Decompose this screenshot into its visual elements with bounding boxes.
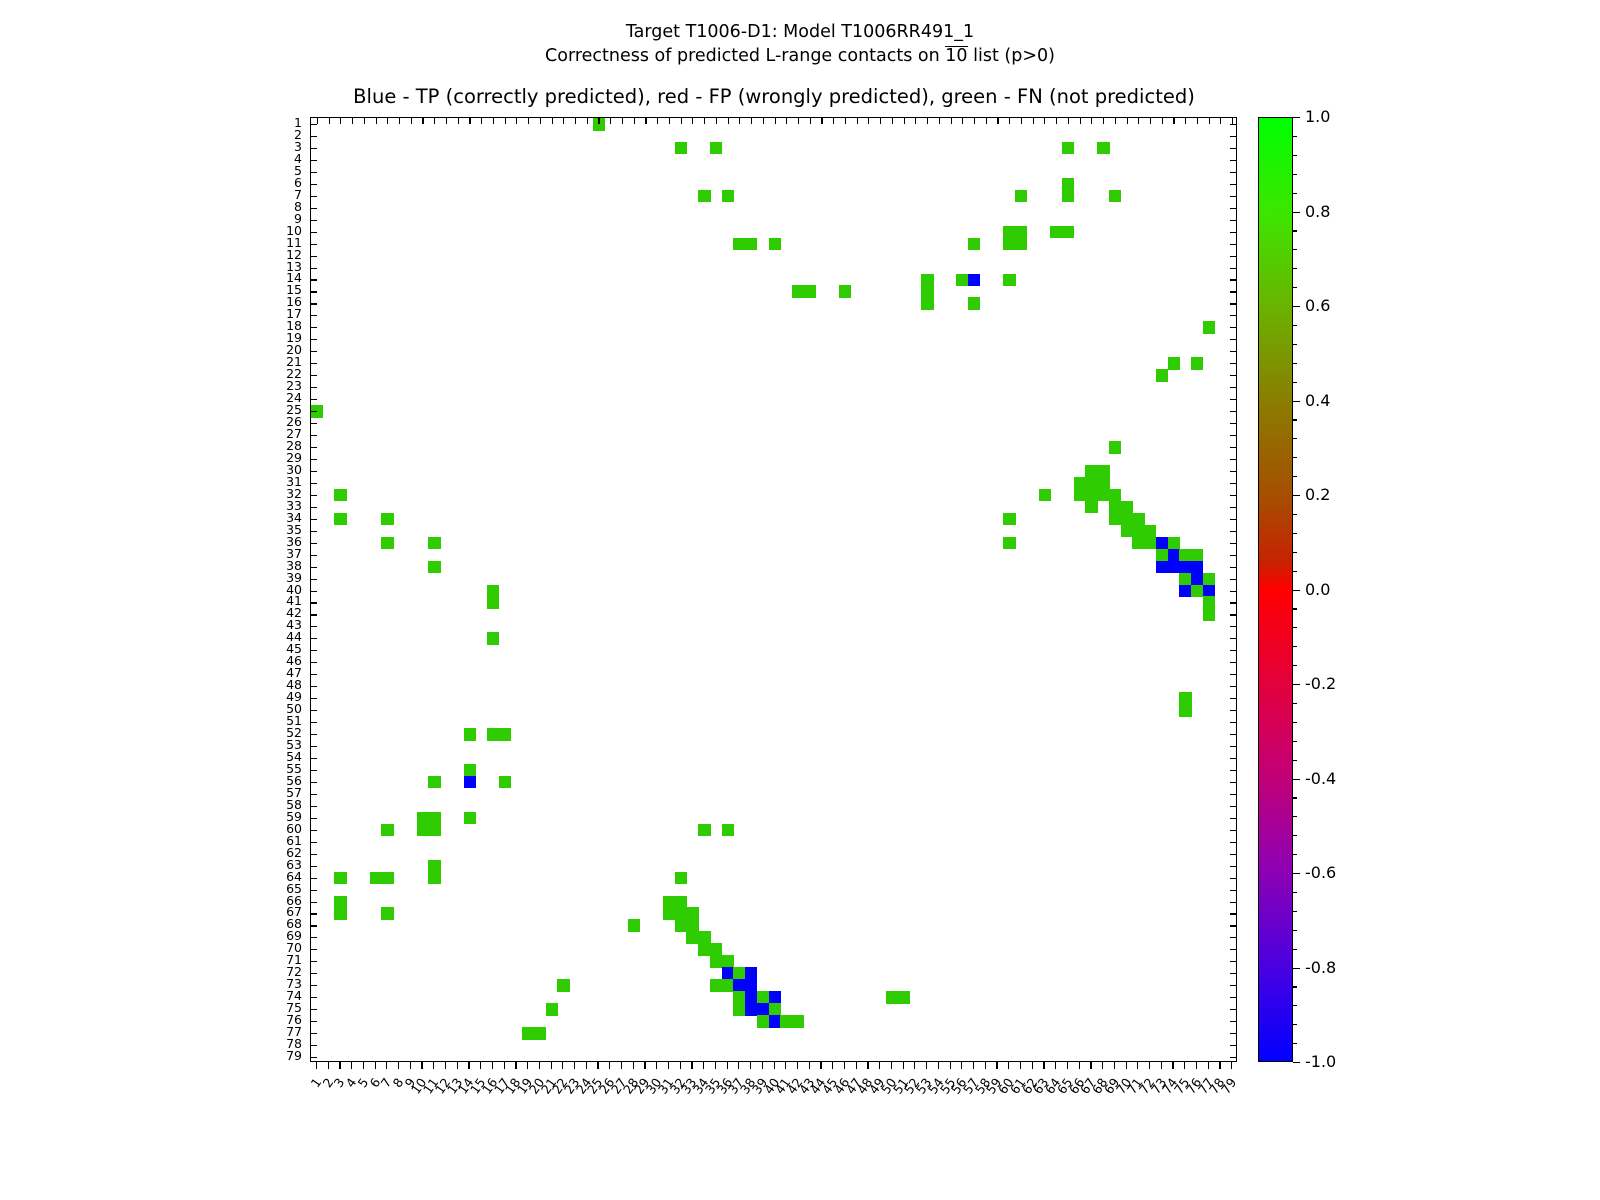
colorbar-minor-tick <box>1293 741 1297 742</box>
x-minor-tick-top <box>681 118 682 124</box>
x-minor-tick-top <box>833 118 834 124</box>
contact-cell <box>792 285 804 298</box>
title-line2-post: list (p>0) <box>968 46 1055 66</box>
y-minor-tick-right <box>1230 770 1236 771</box>
y-minor-tick-right <box>1230 244 1236 245</box>
y-minor-tick-right <box>1230 387 1236 388</box>
x-tick-mark <box>398 1062 399 1069</box>
colorbar-minor-tick <box>1293 533 1297 534</box>
colorbar-minor-tick <box>1293 193 1297 194</box>
y-minor-tick-right <box>1230 184 1236 185</box>
contact-cell <box>1191 549 1203 562</box>
x-minor-tick-top <box>422 118 423 124</box>
x-tick-mark <box>1161 1062 1162 1069</box>
colorbar-minor-tick <box>1293 722 1297 723</box>
contact-cell <box>1085 477 1097 490</box>
contact-cell <box>921 297 933 310</box>
colorbar[interactable]: 1.00.80.60.40.20.0-0.2-0.4-0.6-0.8-1.0 <box>1258 117 1358 1062</box>
y-minor-tick-right <box>1230 471 1236 472</box>
y-minor-tick-right <box>1230 519 1236 520</box>
x-tick-mark <box>844 1062 845 1069</box>
contact-cell <box>745 967 757 980</box>
y-minor-tick-left <box>311 890 317 891</box>
x-tick-mark <box>1114 1062 1115 1069</box>
x-minor-tick-top <box>1115 118 1116 124</box>
colorbar-minor-tick <box>1293 438 1297 439</box>
colorbar-minor-tick <box>1293 174 1297 175</box>
x-minor-tick-top <box>1068 118 1069 124</box>
contact-cell <box>1109 489 1121 502</box>
y-minor-tick-right <box>1230 1045 1236 1046</box>
colorbar-gradient <box>1258 117 1293 1062</box>
y-minor-tick-right <box>1230 303 1236 304</box>
contact-cell <box>1144 537 1156 550</box>
contact-cell <box>1003 226 1015 239</box>
contact-cell <box>1191 357 1203 370</box>
y-minor-tick-left <box>311 902 317 903</box>
y-minor-tick-left <box>311 160 317 161</box>
colorbar-tick-label: 0.0 <box>1305 582 1330 598</box>
colorbar-minor-tick <box>1293 212 1297 213</box>
y-minor-tick-right <box>1230 1033 1236 1034</box>
x-tick-mark <box>820 1062 821 1069</box>
y-minor-tick-right <box>1230 220 1236 221</box>
x-tick-mark <box>1172 1062 1173 1069</box>
contact-cell <box>417 812 429 825</box>
x-tick-mark <box>562 1062 563 1069</box>
x-tick-mark <box>762 1062 763 1069</box>
x-minor-tick-top <box>1162 118 1163 124</box>
y-minor-tick-left <box>311 626 317 627</box>
y-minor-tick-left <box>311 806 317 807</box>
contact-cell <box>1015 226 1027 239</box>
colorbar-minor-tick <box>1293 684 1297 685</box>
x-tick-mark <box>316 1062 317 1069</box>
y-minor-tick-left <box>311 710 317 711</box>
x-minor-tick-top <box>951 118 952 124</box>
x-minor-tick-top <box>481 118 482 124</box>
y-minor-tick-left <box>311 770 317 771</box>
y-minor-tick-right <box>1230 591 1236 592</box>
x-tick-mark <box>867 1062 868 1069</box>
contact-cell <box>1062 190 1074 203</box>
y-minor-tick-right <box>1230 638 1236 639</box>
x-tick-mark <box>1231 1062 1232 1069</box>
contact-cell <box>1203 608 1215 621</box>
x-tick-mark <box>586 1062 587 1069</box>
x-minor-tick-top <box>446 118 447 124</box>
y-minor-tick-left <box>311 543 317 544</box>
x-minor-tick-top <box>1127 118 1128 124</box>
y-minor-tick-left <box>311 136 317 137</box>
y-minor-tick-left <box>311 734 317 735</box>
contact-cell <box>769 1015 781 1028</box>
y-tick-label: 79 <box>286 1050 302 1062</box>
y-minor-tick-left <box>311 531 317 532</box>
y-minor-tick-right <box>1230 614 1236 615</box>
contact-cell <box>487 585 499 598</box>
x-tick-mark <box>950 1062 951 1069</box>
y-minor-tick-left <box>311 220 317 221</box>
contact-cell <box>1085 489 1097 502</box>
x-minor-tick-top <box>317 118 318 124</box>
colorbar-minor-tick <box>1293 476 1297 477</box>
contact-cell <box>1203 573 1215 586</box>
x-tick-mark <box>879 1062 880 1069</box>
x-minor-tick-top <box>493 118 494 124</box>
x-tick-mark <box>703 1062 704 1069</box>
contact-cell <box>1050 226 1062 239</box>
x-tick-mark <box>691 1062 692 1069</box>
x-tick-mark <box>856 1062 857 1069</box>
contact-cell <box>1191 573 1203 586</box>
y-minor-tick-left <box>311 937 317 938</box>
y-minor-tick-left <box>311 351 317 352</box>
contact-cell <box>487 728 499 741</box>
x-tick-mark <box>597 1062 598 1069</box>
contact-cell <box>698 824 710 837</box>
colorbar-minor-tick <box>1293 571 1297 572</box>
y-minor-tick-right <box>1230 674 1236 675</box>
contact-cell <box>1168 549 1180 562</box>
contact-cell <box>487 632 499 645</box>
contact-cell <box>428 537 440 550</box>
y-minor-tick-right <box>1230 734 1236 735</box>
x-tick-mark <box>914 1062 915 1069</box>
contact-cell <box>722 190 734 203</box>
contact-cell <box>745 1003 757 1016</box>
y-minor-tick-left <box>311 172 317 173</box>
y-minor-tick-left <box>311 758 317 759</box>
y-minor-tick-left <box>311 256 317 257</box>
colorbar-minor-tick <box>1293 363 1297 364</box>
colorbar-minor-tick <box>1293 1005 1297 1006</box>
x-tick-mark <box>410 1062 411 1069</box>
y-minor-tick-left <box>311 794 317 795</box>
y-minor-tick-right <box>1230 291 1236 292</box>
x-minor-tick-top <box>716 118 717 124</box>
colorbar-minor-tick <box>1293 495 1297 496</box>
x-minor-tick-top <box>997 118 998 124</box>
x-tick-mark <box>656 1062 657 1069</box>
x-tick-mark <box>961 1062 962 1069</box>
contact-cell <box>1191 561 1203 574</box>
y-minor-tick-left <box>311 614 317 615</box>
x-minor-tick-top <box>634 118 635 124</box>
x-minor-tick-top <box>657 118 658 124</box>
colorbar-tick-label: -0.8 <box>1305 960 1336 976</box>
x-minor-tick-top <box>340 118 341 124</box>
y-minor-tick-left <box>311 483 317 484</box>
y-minor-tick-right <box>1230 375 1236 376</box>
x-minor-tick-top <box>552 118 553 124</box>
x-tick-mark <box>785 1062 786 1069</box>
x-tick-mark <box>363 1062 364 1069</box>
x-tick-mark <box>738 1062 739 1069</box>
colorbar-minor-tick <box>1293 797 1297 798</box>
contact-cell <box>1109 441 1121 454</box>
contact-cell <box>499 776 511 789</box>
contact-cell <box>968 274 980 287</box>
x-tick-mark <box>891 1062 892 1069</box>
contact-cell <box>1039 489 1051 502</box>
y-minor-tick-left <box>311 878 317 879</box>
x-tick-mark <box>386 1062 387 1069</box>
contact-cell <box>921 285 933 298</box>
contact-cell <box>381 907 393 920</box>
y-minor-tick-left <box>311 232 317 233</box>
colorbar-minor-tick <box>1293 230 1297 231</box>
legend-subtitle: Blue - TP (correctly predicted), red - F… <box>310 85 1238 108</box>
x-minor-tick-top <box>469 118 470 124</box>
x-tick-mark <box>1208 1062 1209 1069</box>
x-minor-tick-top <box>563 118 564 124</box>
contact-cell <box>1085 501 1097 514</box>
y-minor-tick-left <box>311 471 317 472</box>
y-minor-tick-right <box>1230 830 1236 831</box>
colorbar-minor-tick <box>1293 760 1297 761</box>
contact-cell <box>698 943 710 956</box>
y-minor-tick-right <box>1230 842 1236 843</box>
y-minor-tick-right <box>1230 327 1236 328</box>
x-tick-mark <box>727 1062 728 1069</box>
contact-cell <box>499 728 511 741</box>
contact-cell <box>1156 549 1168 562</box>
x-minor-tick-top <box>704 118 705 124</box>
x-minor-tick-top <box>411 118 412 124</box>
contact-cell <box>745 238 757 251</box>
y-minor-tick-left <box>311 291 317 292</box>
contact-cell <box>745 979 757 992</box>
x-tick-mark <box>328 1062 329 1069</box>
contact-cell <box>722 979 734 992</box>
colorbar-minor-tick <box>1293 873 1297 874</box>
contact-cell <box>334 489 346 502</box>
contact-cell <box>710 979 722 992</box>
colorbar-minor-tick <box>1293 627 1297 628</box>
contact-cell <box>839 285 851 298</box>
contact-cell <box>698 190 710 203</box>
contact-cell <box>769 1003 781 1016</box>
y-minor-tick-right <box>1230 555 1236 556</box>
x-minor-tick-top <box>821 118 822 124</box>
contact-cell <box>663 896 675 909</box>
colorbar-minor-tick <box>1293 155 1297 156</box>
contact-map-plot[interactable] <box>310 117 1237 1062</box>
contact-cell <box>1168 561 1180 574</box>
x-minor-tick-top <box>1033 118 1034 124</box>
contact-cell <box>757 1003 769 1016</box>
contact-cell <box>1168 357 1180 370</box>
contact-cell <box>956 274 968 287</box>
y-minor-tick-right <box>1230 507 1236 508</box>
y-minor-tick-right <box>1230 854 1236 855</box>
y-minor-tick-right <box>1230 902 1236 903</box>
x-minor-tick-top <box>751 118 752 124</box>
y-minor-tick-left <box>311 495 317 496</box>
y-minor-tick-left <box>311 722 317 723</box>
x-minor-tick-top <box>1150 118 1151 124</box>
y-minor-tick-right <box>1230 878 1236 879</box>
x-minor-tick-top <box>1138 118 1139 124</box>
x-tick-mark <box>609 1062 610 1069</box>
x-tick-mark <box>468 1062 469 1069</box>
x-minor-tick-top <box>786 118 787 124</box>
contact-cell <box>1097 465 1109 478</box>
contact-cell <box>1203 585 1215 598</box>
x-tick-mark <box>1149 1062 1150 1069</box>
contact-cell <box>1074 489 1086 502</box>
contact-cell <box>1097 477 1109 490</box>
contact-cell <box>769 238 781 251</box>
colorbar-tick-label: -0.4 <box>1305 771 1336 787</box>
contact-cell <box>428 824 440 837</box>
contact-cell <box>370 872 382 885</box>
y-minor-tick-left <box>311 1009 317 1010</box>
x-minor-tick-top <box>669 118 670 124</box>
contact-cell <box>886 991 898 1004</box>
title-line2-pre: Correctness of predicted L-range contact… <box>545 46 945 66</box>
x-minor-tick-top <box>1197 118 1198 124</box>
contact-cell <box>722 824 734 837</box>
y-minor-tick-left <box>311 866 317 867</box>
contact-cell <box>557 979 569 992</box>
x-minor-tick-top <box>880 118 881 124</box>
figure-title: Target T1006-D1: Model T1006RR491_1 Corr… <box>0 20 1600 68</box>
y-minor-tick-left <box>311 973 317 974</box>
contact-cell <box>733 1003 745 1016</box>
colorbar-minor-tick <box>1293 646 1297 647</box>
x-tick-mark <box>1067 1062 1068 1069</box>
contact-cell <box>1109 190 1121 203</box>
contact-cell <box>1179 549 1191 562</box>
y-minor-tick-right <box>1230 268 1236 269</box>
colorbar-minor-tick <box>1293 892 1297 893</box>
y-minor-tick-left <box>311 925 317 926</box>
contact-cell <box>686 919 698 932</box>
y-minor-tick-right <box>1230 232 1236 233</box>
contact-cell <box>1144 525 1156 538</box>
x-tick-mark <box>527 1062 528 1069</box>
y-minor-tick-left <box>311 854 317 855</box>
y-minor-tick-left <box>311 1057 317 1058</box>
x-minor-tick-top <box>857 118 858 124</box>
y-minor-tick-right <box>1230 1009 1236 1010</box>
y-minor-tick-right <box>1230 423 1236 424</box>
figure-title-line2: Correctness of predicted L-range contact… <box>0 44 1600 68</box>
y-minor-tick-right <box>1230 208 1236 209</box>
figure-root: Target T1006-D1: Model T1006RR491_1 Corr… <box>0 0 1600 1200</box>
x-tick-mark <box>351 1062 352 1069</box>
colorbar-minor-tick <box>1293 949 1297 950</box>
x-tick-mark <box>421 1062 422 1069</box>
y-minor-tick-right <box>1230 949 1236 950</box>
y-minor-tick-left <box>311 782 317 783</box>
colorbar-minor-tick <box>1293 816 1297 817</box>
x-minor-tick-top <box>763 118 764 124</box>
colorbar-minor-tick <box>1293 1062 1297 1063</box>
y-minor-tick-left <box>311 268 317 269</box>
x-minor-tick-top <box>1080 118 1081 124</box>
contact-cell <box>334 907 346 920</box>
contact-cell <box>1003 238 1015 251</box>
x-minor-tick-top <box>692 118 693 124</box>
contact-cell <box>464 812 476 825</box>
colorbar-minor-tick <box>1293 590 1297 591</box>
y-minor-tick-left <box>311 1045 317 1046</box>
y-minor-tick-right <box>1230 363 1236 364</box>
y-minor-tick-left <box>311 279 317 280</box>
contact-cell <box>769 991 781 1004</box>
title-line2-overlined-value: 10 <box>945 46 967 65</box>
y-minor-tick-left <box>311 591 317 592</box>
x-tick-mark <box>1137 1062 1138 1069</box>
contact-cell <box>628 919 640 932</box>
x-minor-tick-top <box>434 118 435 124</box>
contact-cell <box>686 907 698 920</box>
x-tick-mark <box>621 1062 622 1069</box>
contact-cell <box>968 297 980 310</box>
contact-cell <box>710 142 722 155</box>
y-minor-tick-left <box>311 579 317 580</box>
colorbar-minor-tick <box>1293 986 1297 987</box>
x-minor-tick-top <box>1021 118 1022 124</box>
x-tick-mark <box>668 1062 669 1069</box>
x-minor-tick-top <box>962 118 963 124</box>
contact-cell <box>1132 537 1144 550</box>
y-minor-tick-right <box>1230 495 1236 496</box>
x-minor-tick-top <box>352 118 353 124</box>
y-minor-tick-right <box>1230 1021 1236 1022</box>
y-minor-tick-left <box>311 339 317 340</box>
y-minor-tick-right <box>1230 782 1236 783</box>
contact-cell <box>381 537 393 550</box>
x-minor-tick-top <box>845 118 846 124</box>
contact-cell <box>428 561 440 574</box>
x-tick-mark <box>832 1062 833 1069</box>
y-axis: 1234567891011121314151617181920212223242… <box>240 117 310 1062</box>
x-tick-mark <box>1008 1062 1009 1069</box>
x-minor-tick-top <box>1220 118 1221 124</box>
y-minor-tick-right <box>1230 136 1236 137</box>
y-minor-tick-right <box>1230 172 1236 173</box>
contact-cell <box>675 907 687 920</box>
x-minor-tick-top <box>868 118 869 124</box>
y-minor-tick-right <box>1230 435 1236 436</box>
contact-cell <box>1121 513 1133 526</box>
colorbar-minor-tick <box>1293 287 1297 288</box>
contact-cell <box>675 872 687 885</box>
x-minor-tick-top <box>329 118 330 124</box>
x-axis: 1234567891011121314151617181920212223242… <box>310 1062 1237 1192</box>
y-minor-tick-right <box>1230 351 1236 352</box>
y-minor-tick-right <box>1230 662 1236 663</box>
colorbar-tick-label: 0.4 <box>1305 393 1330 409</box>
contact-cell <box>921 274 933 287</box>
contact-cell <box>1097 142 1109 155</box>
contact-cell <box>733 967 745 980</box>
y-minor-tick-right <box>1230 459 1236 460</box>
contact-cell <box>1203 321 1215 334</box>
y-minor-tick-left <box>311 196 317 197</box>
x-tick-mark <box>1090 1062 1091 1069</box>
contact-cell <box>417 824 429 837</box>
x-minor-tick-top <box>1173 118 1174 124</box>
y-minor-tick-right <box>1230 698 1236 699</box>
y-minor-tick-right <box>1230 985 1236 986</box>
y-minor-tick-left <box>311 124 317 125</box>
x-minor-tick-top <box>927 118 928 124</box>
